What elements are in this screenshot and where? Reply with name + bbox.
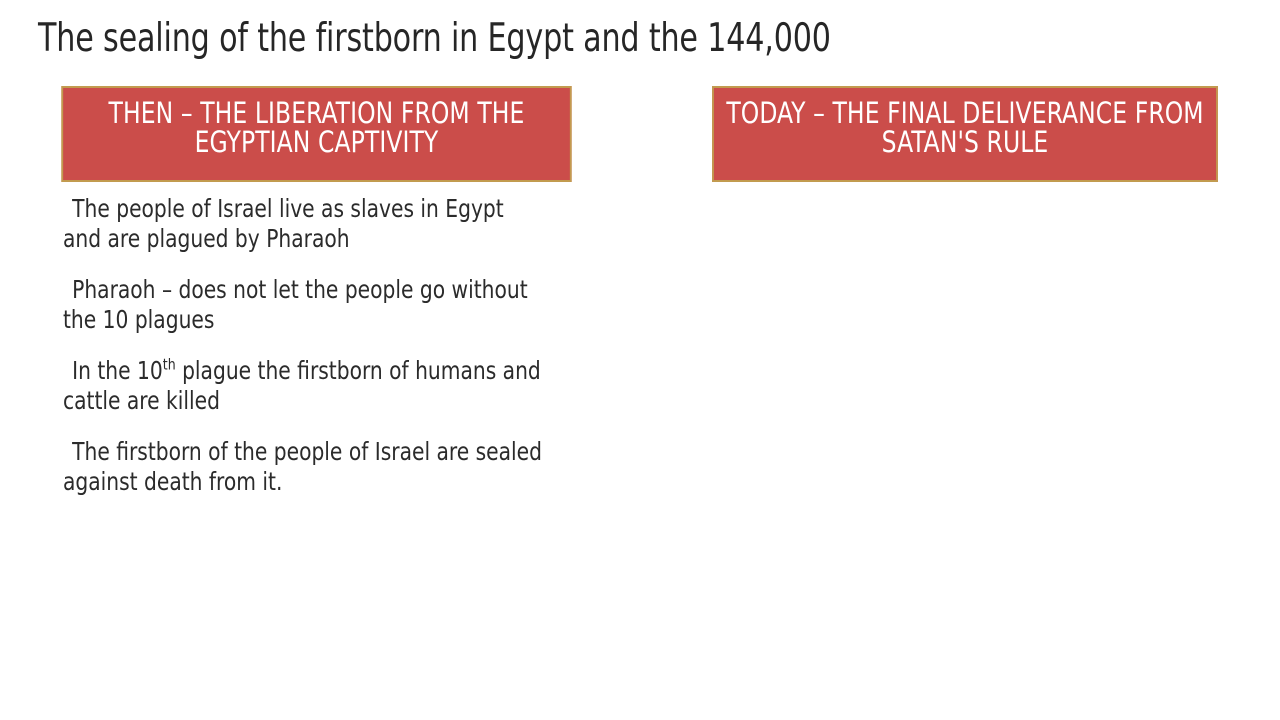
paragraph-text: Pharaoh – does not let the people go wit… — [63, 275, 534, 334]
column-body-today — [684, 194, 1246, 195]
column-body-then: The people of Israel live as slaves in E… — [33, 194, 600, 497]
list-item: In the 10th plague the firstborn of huma… — [63, 356, 543, 416]
column-header-then: THEN – THE LIBERATION FROM THE EGYPTIAN … — [61, 86, 571, 182]
paragraph-text: The firstborn of the people of Israel ar… — [63, 437, 548, 496]
paragraph-text: In the 10 — [66, 356, 163, 385]
list-item: The people of Israel live as slaves in E… — [63, 194, 543, 254]
column-then: THEN – THE LIBERATION FROM THE EGYPTIAN … — [33, 86, 600, 497]
column-header-today: TODAY – THE FINAL DELIVERANCE FROM SATAN… — [712, 86, 1218, 182]
slide-canvas: The sealing of the firstborn in Egypt an… — [0, 0, 1280, 720]
ordinal-suffix: th — [163, 356, 176, 374]
list-item: The firstborn of the people of Israel ar… — [63, 437, 543, 497]
page-title: The sealing of the firstborn in Egypt an… — [38, 17, 1070, 61]
column-today: TODAY – THE FINAL DELIVERANCE FROM SATAN… — [684, 86, 1246, 195]
paragraph-text: The people of Israel live as slaves in E… — [63, 194, 510, 253]
list-item: Pharaoh – does not let the people go wit… — [63, 275, 543, 335]
